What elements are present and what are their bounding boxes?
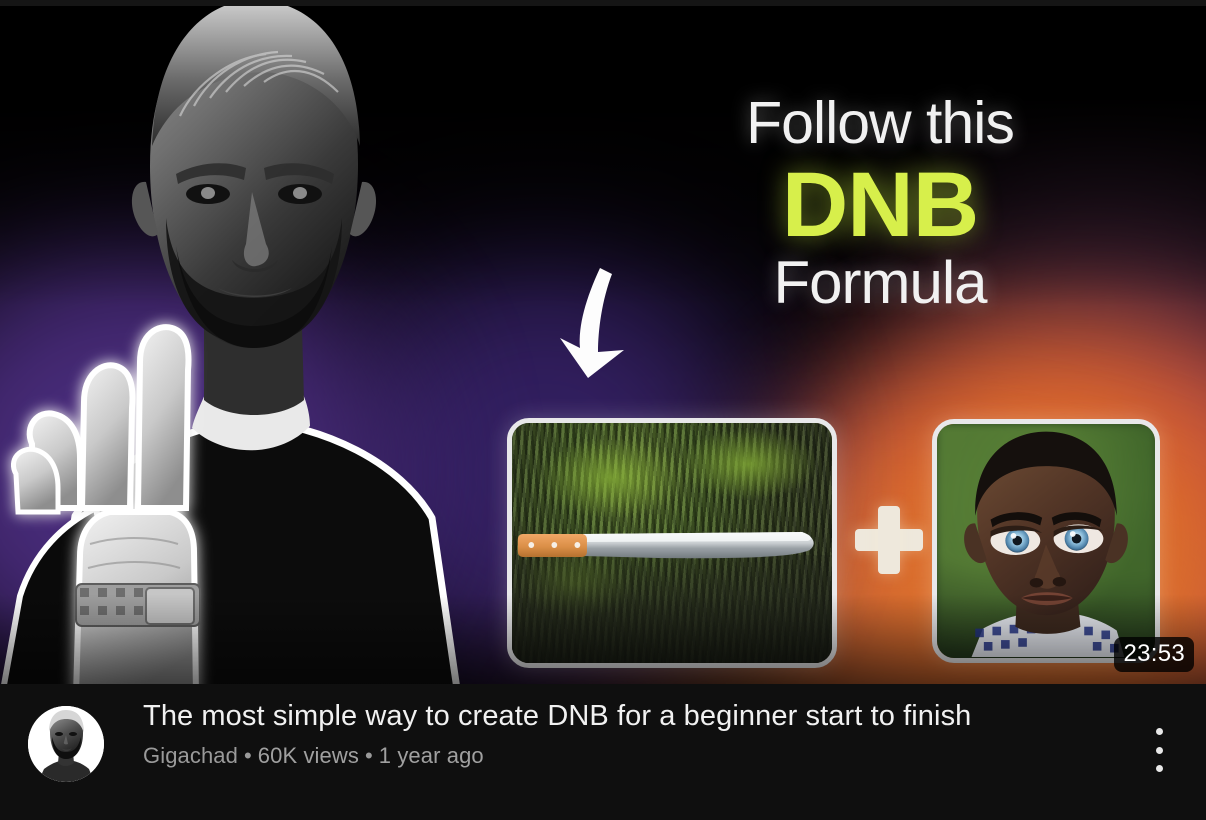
gigachad-figure	[0, 6, 520, 684]
curved-down-arrow-icon	[528, 264, 658, 384]
plus-sign	[855, 506, 923, 574]
kebab-dot-1	[1156, 728, 1163, 735]
bottom-vignette	[0, 594, 1206, 684]
machete-icon	[514, 529, 821, 567]
video-duration-badge: 23:53	[1114, 637, 1194, 672]
video-meta-row: The most simple way to create DNB for a …	[0, 684, 1206, 820]
kebab-dot-3	[1156, 765, 1163, 772]
channel-name[interactable]: Gigachad	[143, 743, 238, 768]
more-options-icon[interactable]	[1144, 728, 1174, 772]
video-meta-text: The most simple way to create DNB for a …	[143, 698, 1103, 769]
plus-vertical-bar	[878, 506, 900, 574]
video-byline: Gigachad•60K views•1 year ago	[143, 743, 1103, 769]
moss-patch	[538, 437, 685, 519]
kebab-dot-2	[1156, 747, 1163, 754]
byline-separator-1: •	[244, 743, 252, 768]
video-title[interactable]: The most simple way to create DNB for a …	[143, 698, 1103, 734]
video-card[interactable]: Follow this DNB Formula	[0, 0, 1206, 820]
video-thumbnail[interactable]: Follow this DNB Formula	[0, 6, 1206, 684]
published-time: 1 year ago	[379, 743, 484, 768]
moss-patch	[678, 428, 819, 500]
view-count: 60K views	[258, 743, 359, 768]
channel-avatar[interactable]	[28, 706, 104, 782]
byline-separator-2: •	[365, 743, 373, 768]
